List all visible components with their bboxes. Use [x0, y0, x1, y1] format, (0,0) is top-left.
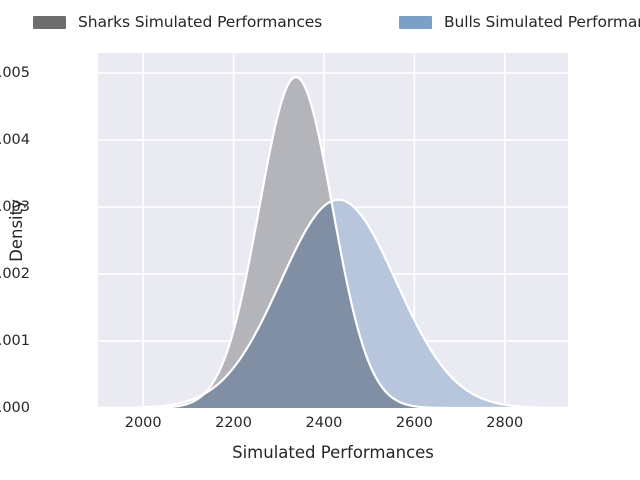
legend-item-bulls[interactable]: Bulls Simulated Performances — [399, 13, 640, 31]
y-axis-label: Density — [4, 53, 30, 408]
x-axis-label: Simulated Performances — [98, 443, 568, 462]
legend-label-sharks: Sharks Simulated Performances — [78, 13, 322, 31]
x-tick-label: 2800 — [445, 415, 565, 431]
kde-density-chart: Sharks Simulated Performances Bulls Simu… — [0, 0, 640, 480]
legend-label-bulls: Bulls Simulated Performances — [444, 13, 640, 31]
legend-swatch-bulls — [399, 16, 432, 29]
legend-item-sharks[interactable]: Sharks Simulated Performances — [33, 13, 322, 31]
legend-swatch-sharks — [33, 16, 66, 29]
chart-legend: Sharks Simulated Performances Bulls Simu… — [0, 0, 640, 48]
plot-area — [98, 53, 568, 408]
density-curves — [98, 53, 568, 408]
